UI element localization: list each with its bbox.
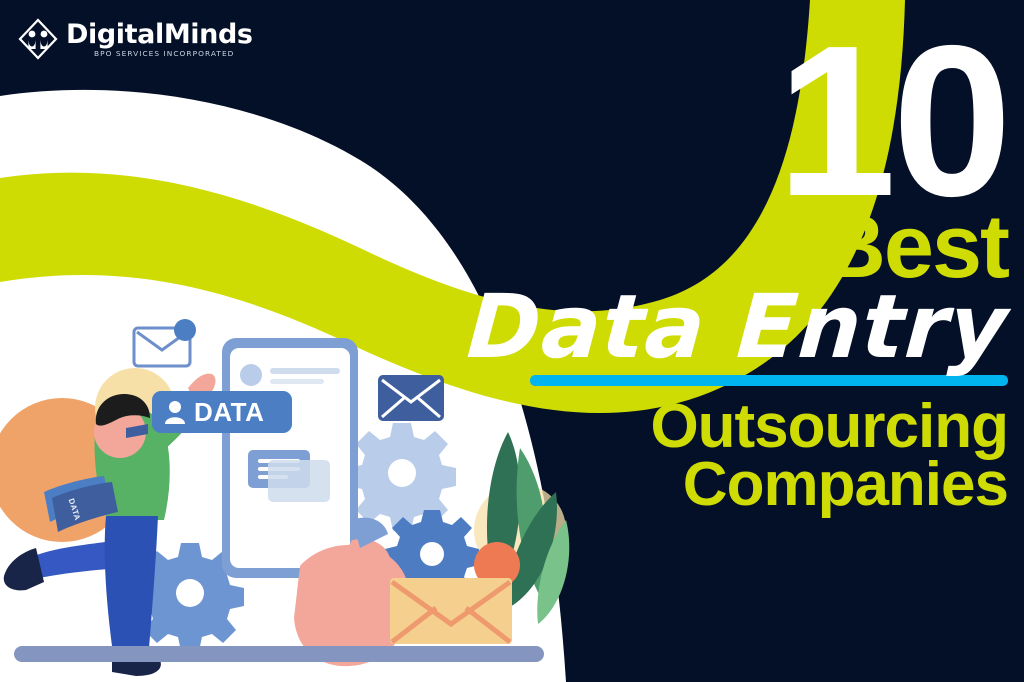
headline-data-entry: Data Entry: [445, 285, 1011, 369]
ground-bar: [14, 646, 544, 662]
headline-number: 10: [448, 26, 1008, 215]
brand-logo[interactable]: DigitalMinds BPO SERVICES INCORPORATED: [18, 18, 253, 60]
person-icon: [164, 400, 186, 424]
logo-tagline: BPO SERVICES INCORPORATED: [94, 50, 253, 57]
smartphone: [222, 338, 358, 578]
data-badge-label: DATA: [194, 397, 264, 428]
promotional-banner: DATA DATA DigitalMinds BPO SERVICES INCO…: [0, 0, 1024, 682]
digitalminds-diamond-emblem-icon: [18, 18, 58, 60]
headline-block: 10 Best Data Entry Outsourcing Companies: [448, 26, 1008, 516]
tan-envelope: [390, 578, 512, 644]
data-badge: DATA: [152, 391, 292, 433]
headline-companies: Companies: [448, 454, 1008, 516]
envelope-solid-icon: [378, 375, 444, 421]
headline-outsourcing: Outsourcing: [448, 396, 1008, 458]
logo-name: DigitalMinds: [66, 21, 253, 48]
